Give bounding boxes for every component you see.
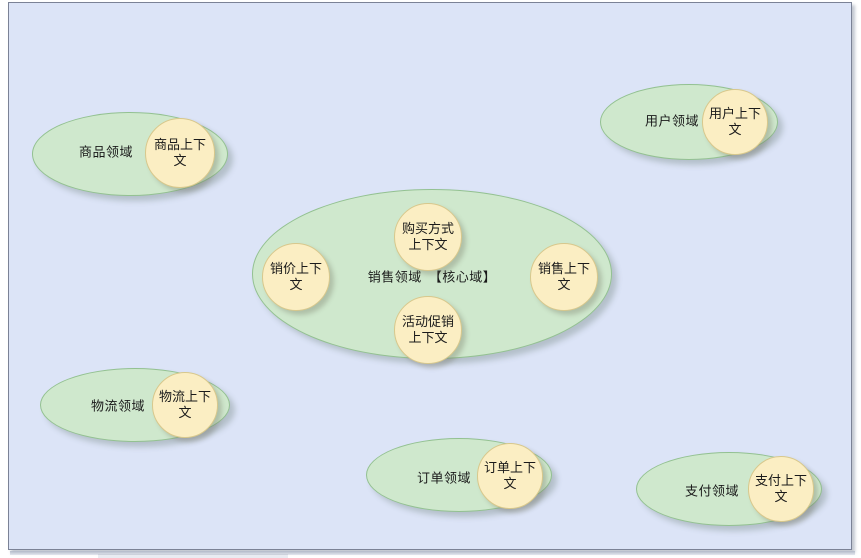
diagram-board[interactable]: 商品领域商品上下文用户领域用户上下文销售领域 【核心域】购买方式上下文销价上下文…	[8, 2, 852, 550]
context-label-user-context: 用户上下文	[703, 106, 767, 138]
context-label-payment-context: 支付上下文	[749, 473, 813, 505]
context-circle-product-context[interactable]: 商品上下文	[145, 118, 215, 188]
context-label-order-context: 订单上下文	[478, 460, 542, 492]
context-circle-price-context[interactable]: 销价上下文	[262, 243, 330, 311]
context-circle-payment-context[interactable]: 支付上下文	[748, 456, 814, 522]
context-label-sales-context: 销售上下文	[531, 261, 597, 293]
board-footer-tab	[98, 554, 288, 558]
context-circle-sales-context[interactable]: 销售上下文	[530, 243, 598, 311]
context-label-purchase-method-context: 购买方式上下文	[395, 221, 461, 253]
context-circle-user-context[interactable]: 用户上下文	[702, 89, 768, 155]
context-circle-order-context[interactable]: 订单上下文	[477, 443, 543, 509]
context-label-price-context: 销价上下文	[263, 261, 329, 293]
context-label-product-context: 商品上下文	[146, 137, 214, 169]
context-circle-promotion-context[interactable]: 活动促销上下文	[394, 296, 462, 364]
context-circle-logistics-context[interactable]: 物流上下文	[152, 372, 218, 438]
diagram-canvas: 商品领域商品上下文用户领域用户上下文销售领域 【核心域】购买方式上下文销价上下文…	[0, 0, 861, 558]
context-circle-purchase-method-context[interactable]: 购买方式上下文	[394, 203, 462, 271]
context-label-promotion-context: 活动促销上下文	[395, 314, 461, 346]
context-label-logistics-context: 物流上下文	[153, 389, 217, 421]
